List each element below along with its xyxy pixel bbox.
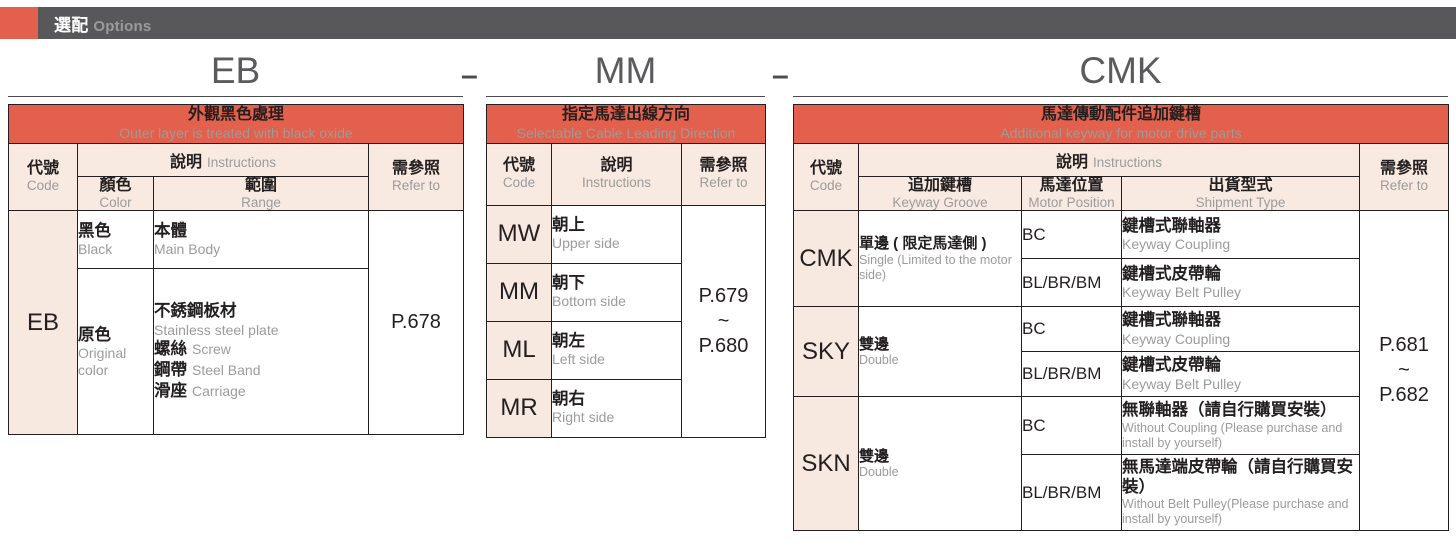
cmk-header-row-1: 代號 Code 說明Instructions 需參照 Refer to: [794, 143, 1449, 176]
cmk-code-sky: SKY: [794, 307, 859, 397]
eb-band-zh: 外觀黑色處理: [9, 105, 463, 125]
eb-range-band-zh: 鋼帶: [154, 361, 187, 379]
eb-code-cell: EB: [9, 211, 78, 435]
cmk-code-skn: SKN: [794, 397, 859, 531]
cmk-header-code-zh: 代號: [794, 160, 858, 178]
cmk-shipment-sky-bl-zh: 鍵槽式皮帶輪: [1122, 356, 1359, 375]
cmk-header-motor-position-en: Motor Position: [1022, 195, 1121, 211]
cmk-header-shipment: 出貨型式 Shipment Type: [1122, 176, 1360, 211]
eb-band: 外觀黑色處理 Outer layer is treated with black…: [9, 105, 464, 144]
cmk-header-row-2: 追加鍵槽 Keyway Groove 馬達位置 Motor Position 出…: [794, 176, 1449, 211]
section-header-zh: 選配: [54, 16, 88, 35]
cmk-keyway-cmk-en: Single (Limited to the motor side): [859, 253, 1021, 283]
cmk-header-keyway-en: Keyway Groove: [859, 195, 1021, 211]
cmk-shipment-skn-bl: 無馬達端皮帶輪（請自行購買安裝） Without Belt Pulley(Ple…: [1122, 455, 1360, 531]
mm-header-row: 代號 Code 說明 Instructions 需參照 Refer to: [487, 143, 766, 205]
eb-header-instructions: 說明Instructions: [78, 143, 369, 176]
cmk-keyway-sky-zh: 雙邊: [859, 336, 1021, 354]
cmk-position-sky-bl: BL/BR/BM: [1022, 352, 1122, 397]
cmk-keyway-skn-zh: 雙邊: [859, 448, 1021, 466]
cmk-table: 馬達傳動配件追加鍵槽 Additional keyway for motor d…: [793, 104, 1449, 531]
cmk-keyway-skn: 雙邊 Double: [859, 397, 1022, 531]
cmk-code-cmk: CMK: [794, 211, 859, 307]
mm-desc-mw: 朝上 Upper side: [552, 205, 682, 263]
cmk-shipment-sky-bc-en: Keyway Coupling: [1122, 331, 1359, 348]
cmk-shipment-cmk-bl-en: Keyway Belt Pulley: [1122, 284, 1359, 301]
title-eb: EB: [8, 52, 463, 89]
cmk-shipment-skn-bl-zh: 無馬達端皮帶輪（請自行購買安裝）: [1122, 458, 1359, 497]
table-row: EB 黑色 Black 本體 Main Body P.678: [9, 211, 464, 269]
section-header-bar: 選配 Options: [0, 7, 1456, 39]
mm-refer-cell: P.679 ~ P.680: [682, 205, 766, 437]
mm-desc-ml-zh: 朝左: [552, 332, 681, 351]
eb-color-black: 黑色 Black: [78, 211, 154, 269]
mm-header-code: 代號 Code: [487, 143, 552, 205]
mm-desc-mm-en: Bottom side: [552, 293, 681, 310]
eb-range-item: 螺絲Screw: [154, 339, 368, 360]
mm-desc-ml: 朝左 Left side: [552, 321, 682, 379]
eb-color-original-en: Original color: [78, 345, 136, 378]
eb-color-original: 原色 Original color: [78, 269, 154, 435]
eb-range-screw-zh: 螺絲: [154, 340, 187, 358]
mm-desc-mr: 朝右 Right side: [552, 379, 682, 437]
separator-dash-1: –: [461, 61, 478, 91]
eb-color-black-en: Black: [78, 241, 153, 258]
eb-header-instructions-zh: 說明: [170, 154, 202, 171]
mm-desc-ml-en: Left side: [552, 351, 681, 368]
title-rule-cmk: [793, 96, 1448, 97]
eb-header-color: 顏色 Color: [78, 176, 154, 211]
cmk-refer-line-2: ~: [1360, 358, 1448, 383]
mm-code-mm: MM: [487, 263, 552, 321]
eb-header-code-zh: 代號: [9, 160, 77, 178]
cmk-header-instructions: 說明Instructions: [859, 143, 1360, 176]
cmk-shipment-sky-bl: 鍵槽式皮帶輪 Keyway Belt Pulley: [1122, 352, 1360, 397]
eb-range-screw-en: Screw: [192, 341, 231, 357]
eb-band-en: Outer layer is treated with black oxide: [9, 125, 463, 143]
title-rule-mm: [486, 96, 765, 97]
eb-range-main-body: 本體 Main Body: [154, 211, 369, 269]
cmk-shipment-skn-bc-en: Without Coupling (Please purchase and in…: [1122, 421, 1359, 451]
eb-range-main-body-zh: 本體: [154, 222, 368, 241]
eb-header-refer: 需參照 Refer to: [369, 143, 464, 211]
eb-header-refer-en: Refer to: [369, 178, 463, 194]
eb-range-item: 不銹鋼板材 Stainless steel plate: [154, 301, 368, 339]
cmk-shipment-sky-bc-zh: 鍵槽式聯軸器: [1122, 311, 1359, 330]
table-row: CMK 單邊 ( 限定馬達側 ) Single (Limited to the …: [794, 211, 1449, 259]
cmk-header-instructions-zh: 說明: [1056, 154, 1088, 171]
eb-header-refer-zh: 需參照: [369, 160, 463, 178]
cmk-keyway-skn-en: Double: [859, 465, 1021, 480]
eb-table: 外觀黑色處理 Outer layer is treated with black…: [8, 104, 464, 435]
cmk-band-row: 馬達傳動配件追加鍵槽 Additional keyway for motor d…: [794, 105, 1449, 144]
title-mm: MM: [486, 52, 765, 89]
mm-refer-line-1: P.679: [682, 284, 765, 309]
cmk-shipment-cmk-bc: 鍵槽式聯軸器 Keyway Coupling: [1122, 211, 1360, 259]
mm-desc-mw-zh: 朝上: [552, 216, 681, 235]
cmk-header-refer: 需參照 Refer to: [1360, 143, 1449, 211]
cmk-header-motor-position: 馬達位置 Motor Position: [1022, 176, 1122, 211]
eb-header-range: 範圍 Range: [154, 176, 369, 211]
mm-desc-mm: 朝下 Bottom side: [552, 263, 682, 321]
cmk-band: 馬達傳動配件追加鍵槽 Additional keyway for motor d…: [794, 105, 1449, 144]
eb-color-black-zh: 黑色: [78, 222, 153, 241]
eb-header-row-1: 代號 Code 說明Instructions 需參照 Refer to: [9, 143, 464, 176]
cmk-shipment-skn-bl-en: Without Belt Pulley(Please purchase and …: [1122, 497, 1359, 527]
mm-refer-line-2: ~: [682, 309, 765, 334]
mm-code-mw: MW: [487, 205, 552, 263]
cmk-header-refer-zh: 需參照: [1360, 160, 1448, 178]
cmk-position-cmk-bc: BC: [1022, 211, 1122, 259]
mm-header-code-en: Code: [487, 175, 551, 191]
cmk-position-sky-bc: BC: [1022, 307, 1122, 352]
cmk-position-cmk-bl: BL/BR/BM: [1022, 259, 1122, 307]
cmk-refer-line-3: P.682: [1360, 383, 1448, 408]
eb-range-main-body-en: Main Body: [154, 241, 368, 258]
cmk-keyway-cmk-zh: 單邊 ( 限定馬達側 ): [859, 235, 1021, 253]
separator-dash-2: –: [772, 61, 789, 91]
eb-header-range-en: Range: [154, 195, 368, 211]
mm-band-zh: 指定馬達出線方向: [487, 105, 765, 125]
section-header-en: Options: [93, 18, 151, 35]
cmk-shipment-sky-bc: 鍵槽式聯軸器 Keyway Coupling: [1122, 307, 1360, 352]
eb-range-original: 不銹鋼板材 Stainless steel plate 螺絲Screw 鋼帶St…: [154, 269, 369, 435]
eb-band-row: 外觀黑色處理 Outer layer is treated with black…: [9, 105, 464, 144]
mm-code-ml: ML: [487, 321, 552, 379]
mm-header-instructions-zh: 說明: [552, 157, 681, 175]
eb-header-range-zh: 範圍: [154, 177, 368, 195]
cmk-keyway-sky-en: Double: [859, 353, 1021, 368]
cmk-shipment-cmk-bc-en: Keyway Coupling: [1122, 236, 1359, 253]
eb-range-plate-en: Stainless steel plate: [154, 322, 368, 340]
mm-header-refer-en: Refer to: [682, 175, 765, 191]
cmk-shipment-cmk-bc-zh: 鍵槽式聯軸器: [1122, 217, 1359, 236]
options-page: 選配 Options EB – MM – CMK 外觀黑色處理 Outer la…: [0, 0, 1456, 559]
cmk-position-skn-bc: BC: [1022, 397, 1122, 455]
cmk-header-refer-en: Refer to: [1360, 178, 1448, 194]
cmk-header-motor-position-zh: 馬達位置: [1022, 177, 1121, 195]
mm-desc-mr-en: Right side: [552, 409, 681, 426]
eb-range-item: 滑座Carriage: [154, 381, 368, 402]
cmk-header-keyway-zh: 追加鍵槽: [859, 177, 1021, 195]
eb-header-instructions-en: Instructions: [207, 155, 276, 170]
cmk-keyway-sky: 雙邊 Double: [859, 307, 1022, 397]
cmk-shipment-skn-bc-zh: 無聯軸器（請自行購買安裝）: [1122, 401, 1359, 420]
cmk-header-shipment-zh: 出貨型式: [1122, 177, 1359, 195]
cmk-header-code-en: Code: [794, 178, 858, 194]
table-row: MW 朝上 Upper side P.679 ~ P.680: [487, 205, 766, 263]
cmk-refer-cell: P.681 ~ P.682: [1360, 211, 1449, 531]
eb-range-carriage-zh: 滑座: [154, 382, 187, 400]
eb-range-item: 鋼帶Steel Band: [154, 360, 368, 381]
eb-range-band-en: Steel Band: [192, 362, 261, 378]
title-rule-eb: [8, 96, 463, 97]
mm-header-refer: 需參照 Refer to: [682, 143, 766, 205]
mm-header-refer-zh: 需參照: [682, 157, 765, 175]
mm-refer-line-3: P.680: [682, 334, 765, 359]
table-row: SKY 雙邊 Double BC 鍵槽式聯軸器 Keyway Coupling: [794, 307, 1449, 352]
cmk-band-zh: 馬達傳動配件追加鍵槽: [794, 105, 1448, 125]
mm-band: 指定馬達出線方向 Selectable Cable Leading Direct…: [487, 105, 766, 144]
cmk-header-instructions-en: Instructions: [1093, 155, 1162, 170]
mm-band-en: Selectable Cable Leading Direction: [487, 125, 765, 143]
mm-desc-mr-zh: 朝右: [552, 390, 681, 409]
cmk-header-code: 代號 Code: [794, 143, 859, 211]
eb-header-color-en: Color: [78, 195, 153, 211]
eb-range-plate-zh: 不銹鋼板材: [154, 301, 368, 322]
cmk-refer-line-1: P.681: [1360, 333, 1448, 358]
eb-header-code: 代號 Code: [9, 143, 78, 211]
accent-swatch: [0, 7, 38, 39]
cmk-shipment-cmk-bl: 鍵槽式皮帶輪 Keyway Belt Pulley: [1122, 259, 1360, 307]
cmk-keyway-cmk: 單邊 ( 限定馬達側 ) Single (Limited to the moto…: [859, 211, 1022, 307]
cmk-shipment-skn-bc: 無聯軸器（請自行購買安裝） Without Coupling (Please p…: [1122, 397, 1360, 455]
cmk-position-skn-bl: BL/BR/BM: [1022, 455, 1122, 531]
eb-refer-cell: P.678: [369, 211, 464, 435]
cmk-header-keyway: 追加鍵槽 Keyway Groove: [859, 176, 1022, 211]
mm-header-instructions: 說明 Instructions: [552, 143, 682, 205]
mm-desc-mm-zh: 朝下: [552, 274, 681, 293]
cmk-band-en: Additional keyway for motor drive parts: [794, 125, 1448, 143]
cmk-shipment-sky-bl-en: Keyway Belt Pulley: [1122, 376, 1359, 393]
section-header-label: 選配 Options: [38, 11, 151, 36]
eb-range-carriage-en: Carriage: [192, 383, 246, 399]
eb-header-color-zh: 顏色: [78, 177, 153, 195]
cmk-header-shipment-en: Shipment Type: [1122, 195, 1359, 211]
mm-header-code-zh: 代號: [487, 157, 551, 175]
mm-table: 指定馬達出線方向 Selectable Cable Leading Direct…: [486, 104, 766, 438]
table-row: SKN 雙邊 Double BC 無聯軸器（請自行購買安裝） Without C…: [794, 397, 1449, 455]
mm-band-row: 指定馬達出線方向 Selectable Cable Leading Direct…: [487, 105, 766, 144]
mm-code-mr: MR: [487, 379, 552, 437]
eb-header-code-en: Code: [9, 178, 77, 194]
mm-header-instructions-en: Instructions: [552, 175, 681, 191]
eb-color-original-zh: 原色: [78, 326, 153, 345]
mm-desc-mw-en: Upper side: [552, 235, 681, 252]
title-cmk: CMK: [793, 52, 1448, 89]
cmk-shipment-cmk-bl-zh: 鍵槽式皮帶輪: [1122, 265, 1359, 284]
